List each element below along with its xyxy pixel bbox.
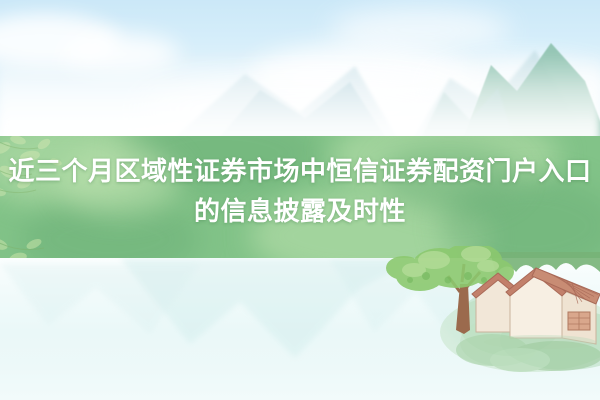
page-title-line-1: 近三个月区域性证券市场中恒信证券配资门户入口 xyxy=(8,157,591,187)
mountain-reflection xyxy=(0,264,200,360)
page-title: 近三个月区域性证券市场中恒信证券配资门户入口的信息披露及时性 xyxy=(0,152,600,232)
page-title-line-2: 的信息披露及时性 xyxy=(194,197,406,227)
atmospheric-haze xyxy=(0,52,600,144)
cottage-scene xyxy=(380,246,600,376)
article-header-banner: 近三个月区域性证券市场中恒信证券配资门户入口的信息披露及时性 xyxy=(0,0,600,400)
